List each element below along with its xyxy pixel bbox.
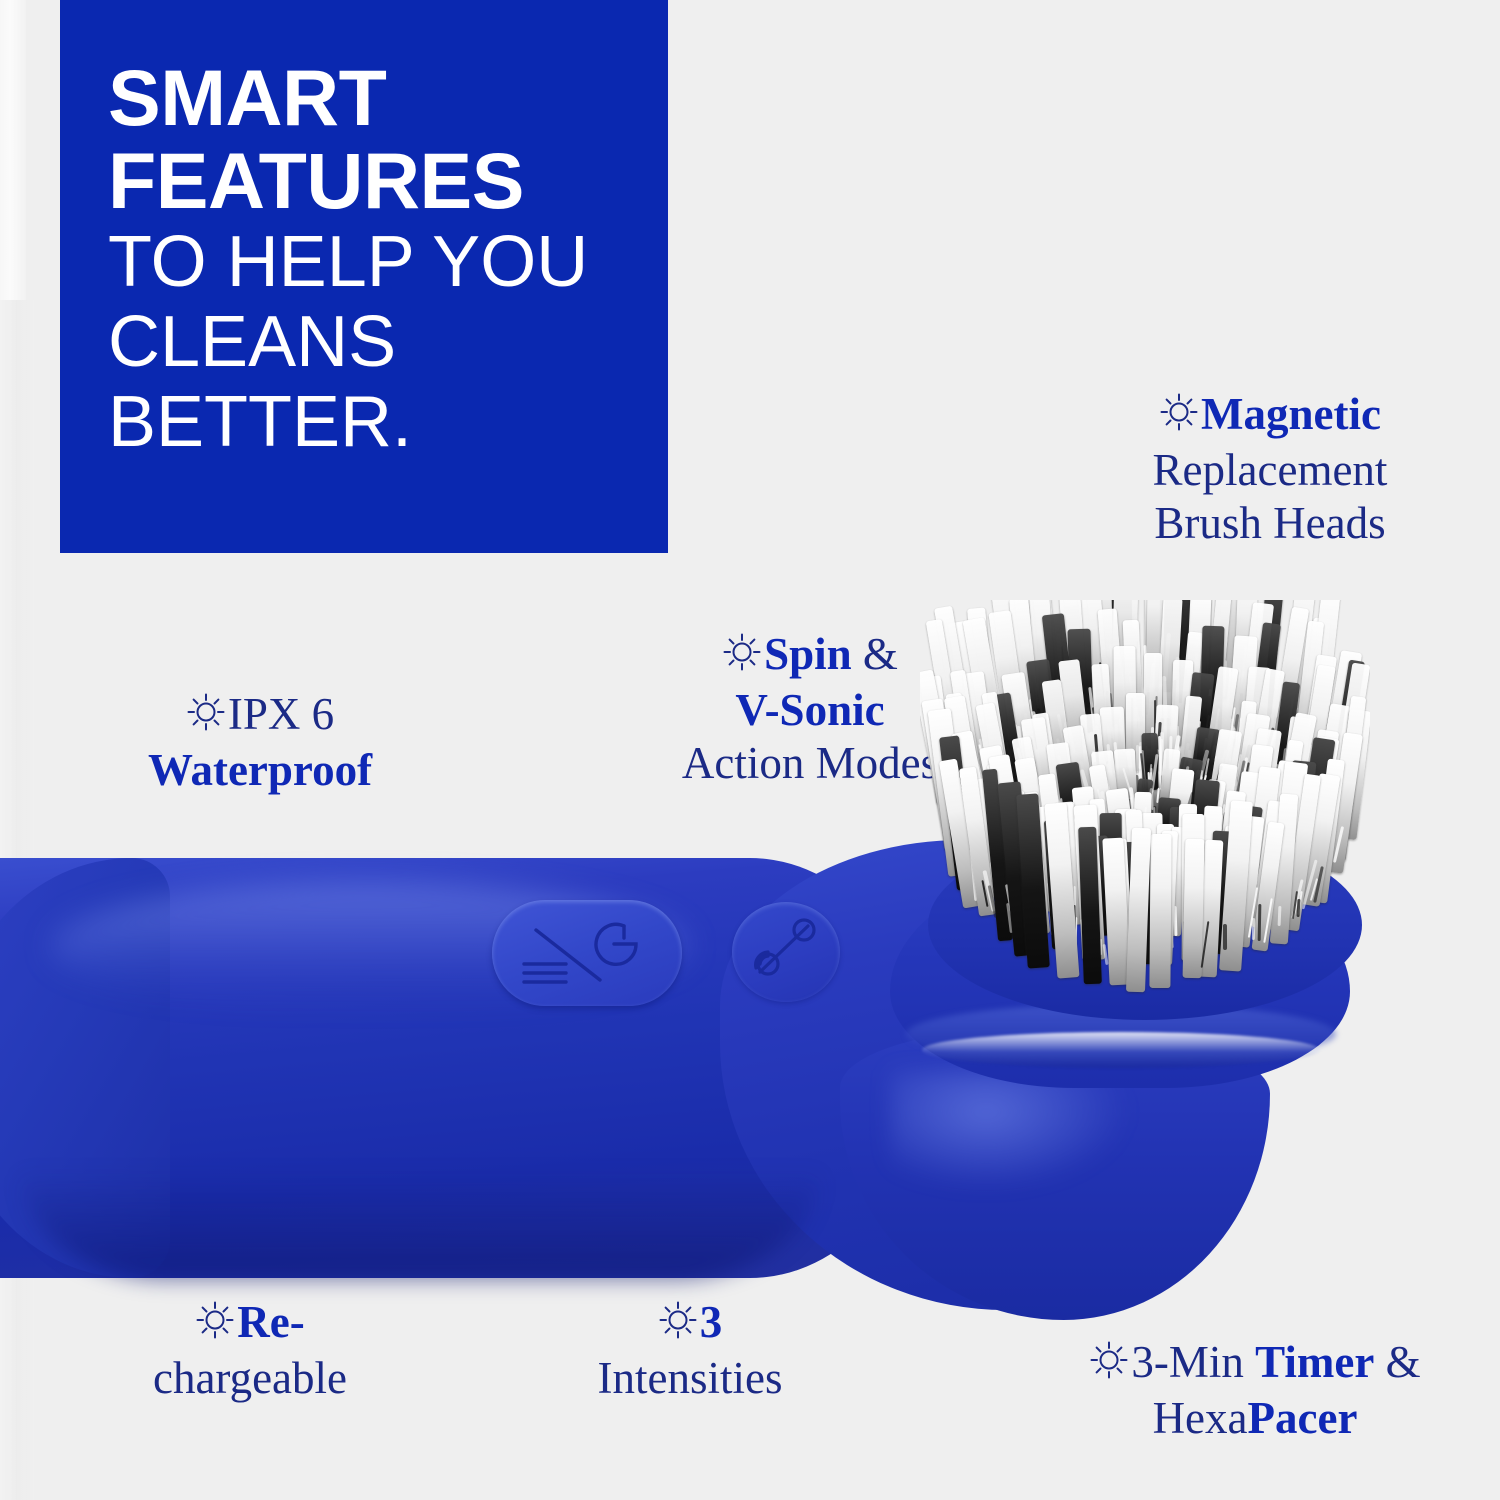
feature-rechargeable-line2: chargeable — [153, 1353, 347, 1403]
feature-rechargeable-bold: Re- — [237, 1297, 304, 1347]
feature-vsonic-bold: V-Sonic — [735, 685, 884, 735]
headline-line-1: SMART — [108, 56, 668, 139]
feature-timer-bold: Timer — [1255, 1337, 1374, 1387]
neck-highlight — [890, 1070, 1130, 1190]
bristle-strand — [1252, 918, 1256, 940]
mode-select-button[interactable] — [732, 902, 840, 1002]
feature-waterproof-regular: IPX 6 — [228, 689, 334, 739]
handle-shading — [20, 1170, 820, 1280]
feature-timer: 3-Min Timer & HexaPacer — [1030, 1336, 1480, 1445]
feature-rechargeable: Re- chargeable — [80, 1296, 420, 1405]
headline-line-2: FEATURES — [108, 139, 668, 222]
feature-waterproof-bold: Waterproof — [148, 745, 372, 795]
feature-action-modes-line3: Action Modes — [682, 738, 938, 788]
power-intensity-icon — [518, 918, 658, 988]
brush-bristles — [920, 600, 1370, 1000]
sun-icon — [722, 631, 762, 684]
collar-seam — [922, 1032, 1320, 1068]
sun-icon — [1089, 1339, 1129, 1392]
sun-icon — [186, 691, 226, 744]
feature-waterproof: IPX 6 Waterproof — [80, 688, 440, 797]
feature-timer-amp: & — [1386, 1337, 1421, 1387]
sun-icon — [1159, 391, 1199, 444]
product-feature-graphic: SMART FEATURES TO HELP YOU CLEANS BETTER… — [0, 0, 1500, 1500]
headline-line-4: CLEANS — [108, 302, 668, 382]
feature-magnetic-line2: Replacement — [1153, 445, 1388, 495]
feature-intensities-line2: Intensities — [598, 1353, 783, 1403]
feature-spin-bold: Spin — [764, 629, 852, 679]
headline-panel: SMART FEATURES TO HELP YOU CLEANS BETTER… — [60, 0, 668, 553]
feature-magnetic-line3: Brush Heads — [1154, 498, 1385, 548]
feature-timer-regular: 3-Min — [1131, 1337, 1244, 1387]
sun-icon — [195, 1299, 235, 1352]
feature-spin-amp: & — [863, 629, 898, 679]
headline-line-5: BETTER. — [108, 382, 668, 462]
bristle-tuft — [1149, 834, 1171, 988]
magnetic-brush-head — [920, 600, 1370, 1020]
feature-hexa-regular: Hexa — [1153, 1393, 1248, 1443]
sun-icon — [658, 1299, 698, 1352]
feature-intensities: 3 Intensities — [510, 1296, 870, 1405]
bristle-strand — [1223, 924, 1227, 950]
headline-line-3: TO HELP YOU — [108, 222, 668, 302]
power-intensity-button[interactable] — [492, 900, 682, 1006]
bristle-tuft — [1126, 827, 1151, 992]
feature-magnetic: Magnetic Replacement Brush Heads — [1060, 388, 1480, 550]
feature-pacer-bold: Pacer — [1248, 1393, 1358, 1443]
mode-percent-icon — [746, 914, 826, 990]
feature-magnetic-bold: Magnetic — [1201, 389, 1381, 439]
feature-intensities-bold: 3 — [700, 1297, 723, 1347]
